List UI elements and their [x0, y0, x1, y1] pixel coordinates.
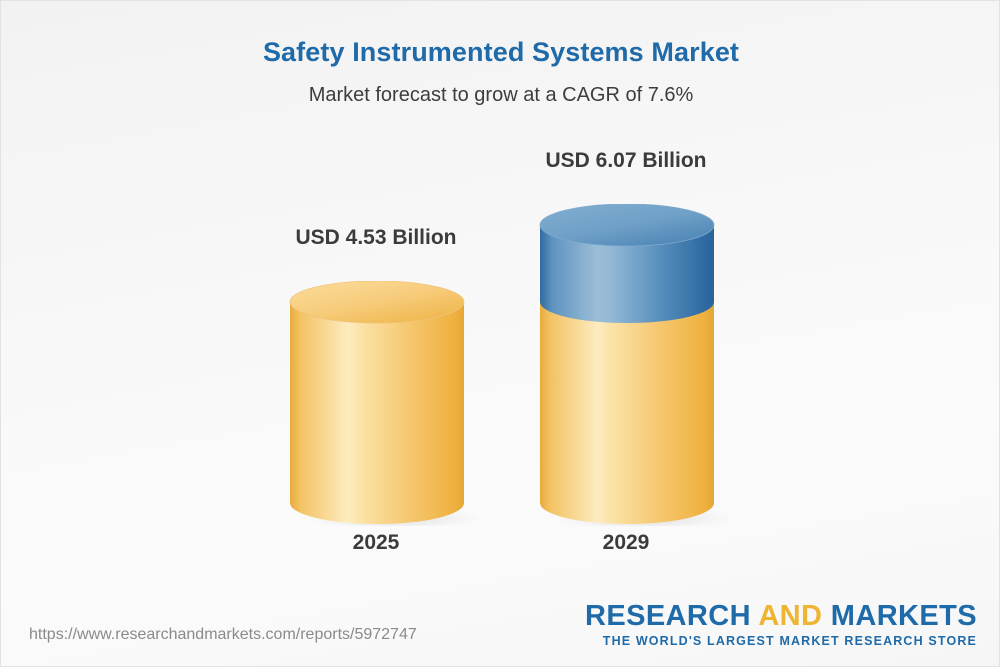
brand-tagline: THE WORLD'S LARGEST MARKET RESEARCH STOR…	[585, 631, 977, 648]
brand-name-and: AND	[758, 600, 822, 632]
chart-plot-area: USD 4.53 Billion	[1, 1, 1000, 667]
cylinder-2029-svg	[539, 204, 729, 526]
brand-name-markets: MARKETS	[822, 600, 977, 632]
cylinder-2025	[289, 281, 479, 531]
source-url[interactable]: https://www.researchandmarkets.com/repor…	[29, 626, 417, 644]
brand-name: RESEARCH AND MARKETS	[585, 601, 977, 631]
bar-value-label-2029: USD 6.07 Billion	[499, 149, 753, 173]
bar-value-label-2025: USD 4.53 Billion	[249, 226, 503, 250]
brand-name-research: RESEARCH	[585, 600, 758, 632]
infographic-card: Safety Instrumented Systems Market Marke…	[0, 0, 1000, 667]
cylinder-2025-svg	[289, 281, 479, 526]
bar-category-label-2029: 2029	[499, 531, 753, 555]
cylinder-body	[290, 302, 464, 524]
bar-category-label-2025: 2025	[249, 531, 503, 555]
cylinder-body-base-segment	[540, 302, 714, 524]
brand-logo: RESEARCH AND MARKETS THE WORLD'S LARGEST…	[585, 601, 977, 648]
cylinder-2029	[539, 204, 729, 531]
